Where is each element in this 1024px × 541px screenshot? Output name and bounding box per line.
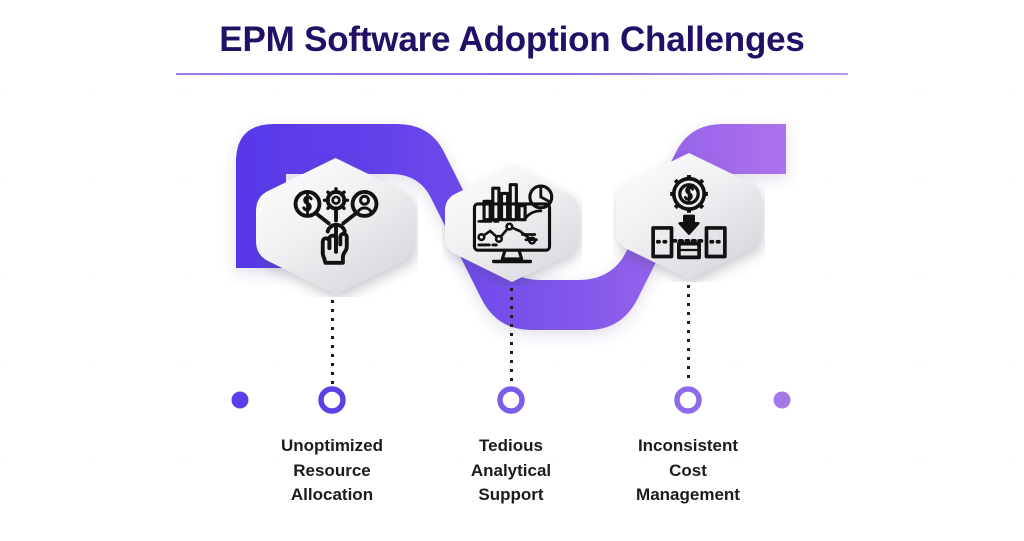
step-2-label: Tedious Analytical Support [431,434,591,508]
step-2-label-line-3: Support [431,483,591,508]
timeline-end-cap [774,392,791,409]
page-title: EPM Software Adoption Challenges [0,20,1024,60]
step-1-label: Unoptimized Resource Allocation [242,434,422,508]
step-1-label-line-3: Allocation [242,483,422,508]
step-3-label-line-3: Management [598,483,778,508]
step-2-label-line-2: Analytical [431,459,591,484]
page-title-wrap: EPM Software Adoption Challenges [0,20,1024,60]
title-underline-rule [176,73,848,75]
step-2-label-line-1: Tedious [431,434,591,459]
infographic-canvas: EPM Software Adoption Challenges [0,0,1024,541]
step-1-label-line-2: Resource [242,459,422,484]
timeline-node-3[interactable] [677,389,699,411]
timeline-node-2[interactable] [500,389,522,411]
timeline-start-cap [232,392,249,409]
step-1-label-line-1: Unoptimized [242,434,422,459]
timeline-node-1[interactable] [321,389,343,411]
step-3-label: Inconsistent Cost Management [598,434,778,508]
step-3-label-line-2: Cost [598,459,778,484]
step-3-label-line-1: Inconsistent [598,434,778,459]
